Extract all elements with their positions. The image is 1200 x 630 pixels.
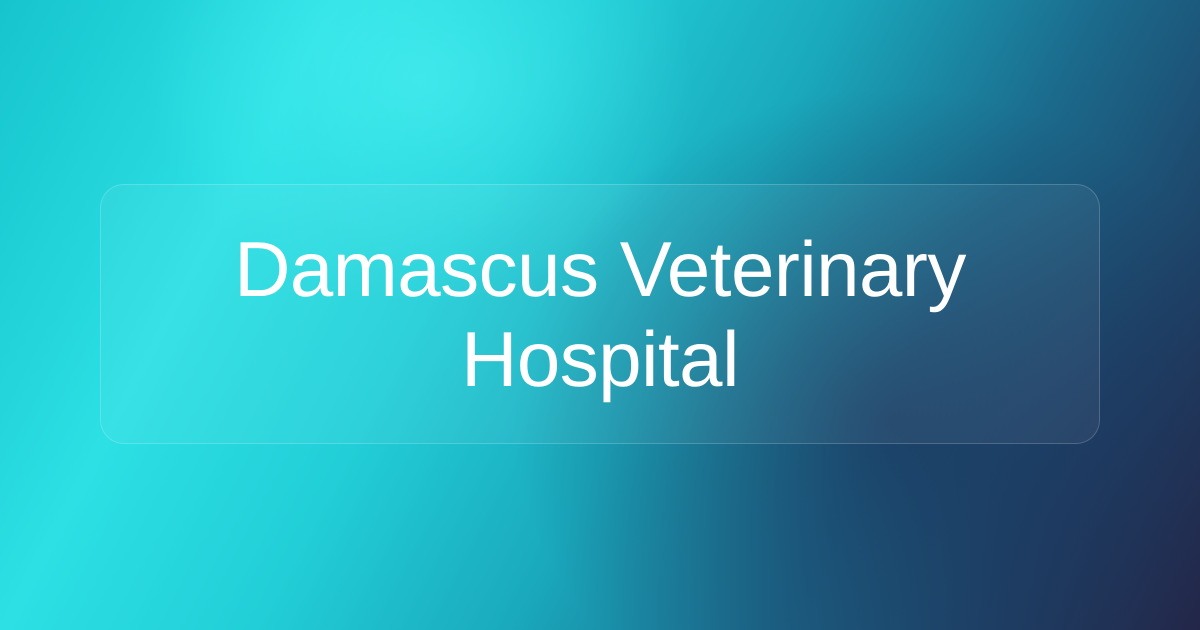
title-card: Damascus Veterinary Hospital [100,184,1100,444]
og-preview-canvas: Damascus Veterinary Hospital [0,0,1200,630]
page-title: Damascus Veterinary Hospital [141,224,1059,404]
